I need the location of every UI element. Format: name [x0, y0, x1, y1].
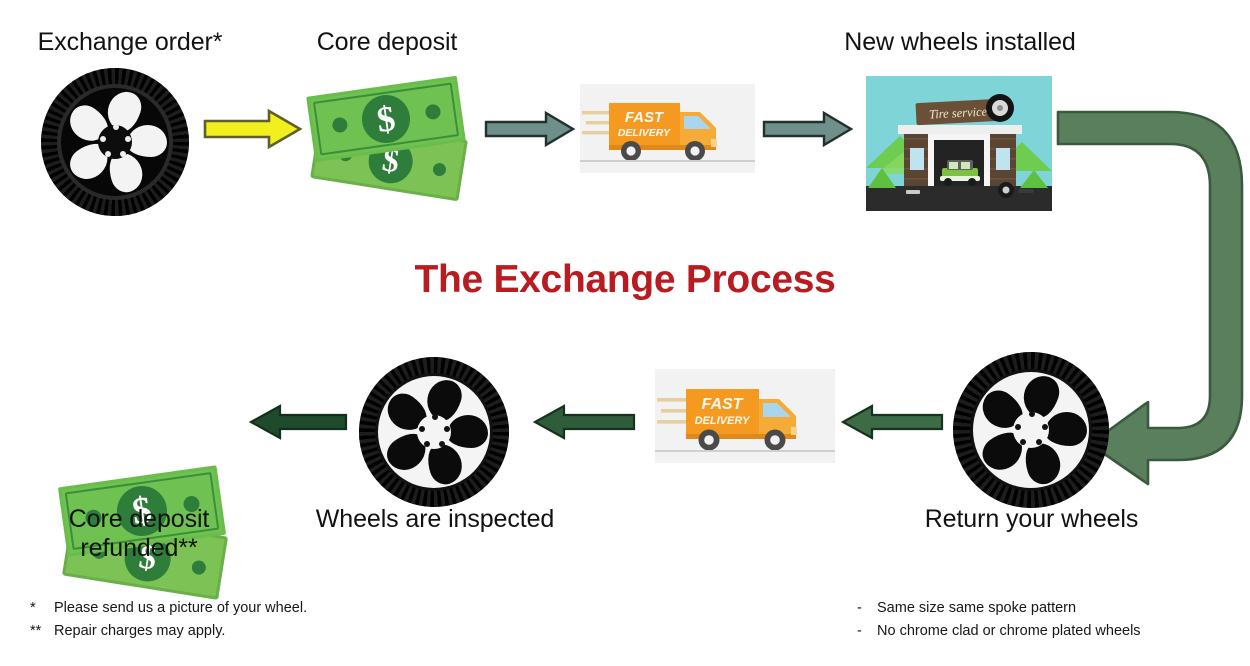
footnote-text: Repair charges may apply.	[54, 620, 225, 643]
footnote-left-item: * Please send us a picture of your wheel…	[30, 597, 460, 620]
svg-text:DELIVERY: DELIVERY	[618, 127, 671, 139]
label-core-deposit-refunded-line1: Core deposit	[30, 505, 248, 534]
icon-delivery-van-out: FAST DELIVERY	[580, 84, 755, 173]
footnote-left-item: ** Repair charges may apply.	[30, 620, 460, 643]
arrow-deposit-to-van	[484, 110, 576, 148]
label-core-deposit: Core deposit	[272, 28, 502, 57]
page-title: The Exchange Process	[225, 258, 1025, 302]
icon-wheels-inspected	[359, 357, 509, 507]
label-exchange-order: Exchange order*	[0, 28, 260, 57]
arrow-van-to-garage	[762, 110, 854, 148]
label-core-deposit-refunded: Core deposit refunded**	[30, 505, 248, 563]
svg-text:FAST: FAST	[702, 396, 744, 413]
label-new-wheels-installed: New wheels installed	[800, 28, 1120, 57]
arrow-van-to-inspected	[532, 403, 636, 441]
footnotes-right: - Same size same spoke pattern - No chro…	[857, 597, 1247, 644]
footnote-marker: *	[30, 597, 54, 620]
label-core-deposit-refunded-line2: refunded**	[30, 534, 248, 563]
icon-exchange-order-wheel	[41, 68, 189, 216]
svg-text:DELIVERY: DELIVERY	[695, 415, 751, 427]
footnote-right-item: - Same size same spoke pattern	[857, 597, 1247, 620]
icon-return-your-wheels	[953, 352, 1109, 508]
icon-tire-service-garage: Tire service	[866, 76, 1052, 211]
footnotes-left: * Please send us a picture of your wheel…	[30, 597, 460, 644]
footnote-text: Please send us a picture of your wheel.	[54, 597, 307, 620]
svg-text:FAST: FAST	[625, 109, 665, 126]
footnote-marker: -	[857, 597, 877, 620]
footnote-text: Same size same spoke pattern	[877, 597, 1076, 620]
exchange-process-diagram: Exchange order* Core deposit New wheels …	[0, 0, 1250, 666]
arrow-order-to-deposit	[203, 108, 303, 150]
label-return-your-wheels: Return your wheels	[890, 505, 1173, 534]
footnote-right-item: - No chrome clad or chrome plated wheels	[857, 620, 1247, 643]
arrow-inspected-to-refund	[248, 403, 348, 441]
footnote-text: No chrome clad or chrome plated wheels	[877, 620, 1141, 643]
footnote-marker: **	[30, 620, 54, 643]
arrow-return-to-van	[840, 403, 944, 441]
footnote-marker: -	[857, 620, 877, 643]
label-wheels-are-inspected: Wheels are inspected	[285, 505, 585, 534]
icon-delivery-van-back: FAST DELIVERY	[655, 369, 835, 463]
icon-core-deposit-money: $ $	[308, 82, 478, 202]
